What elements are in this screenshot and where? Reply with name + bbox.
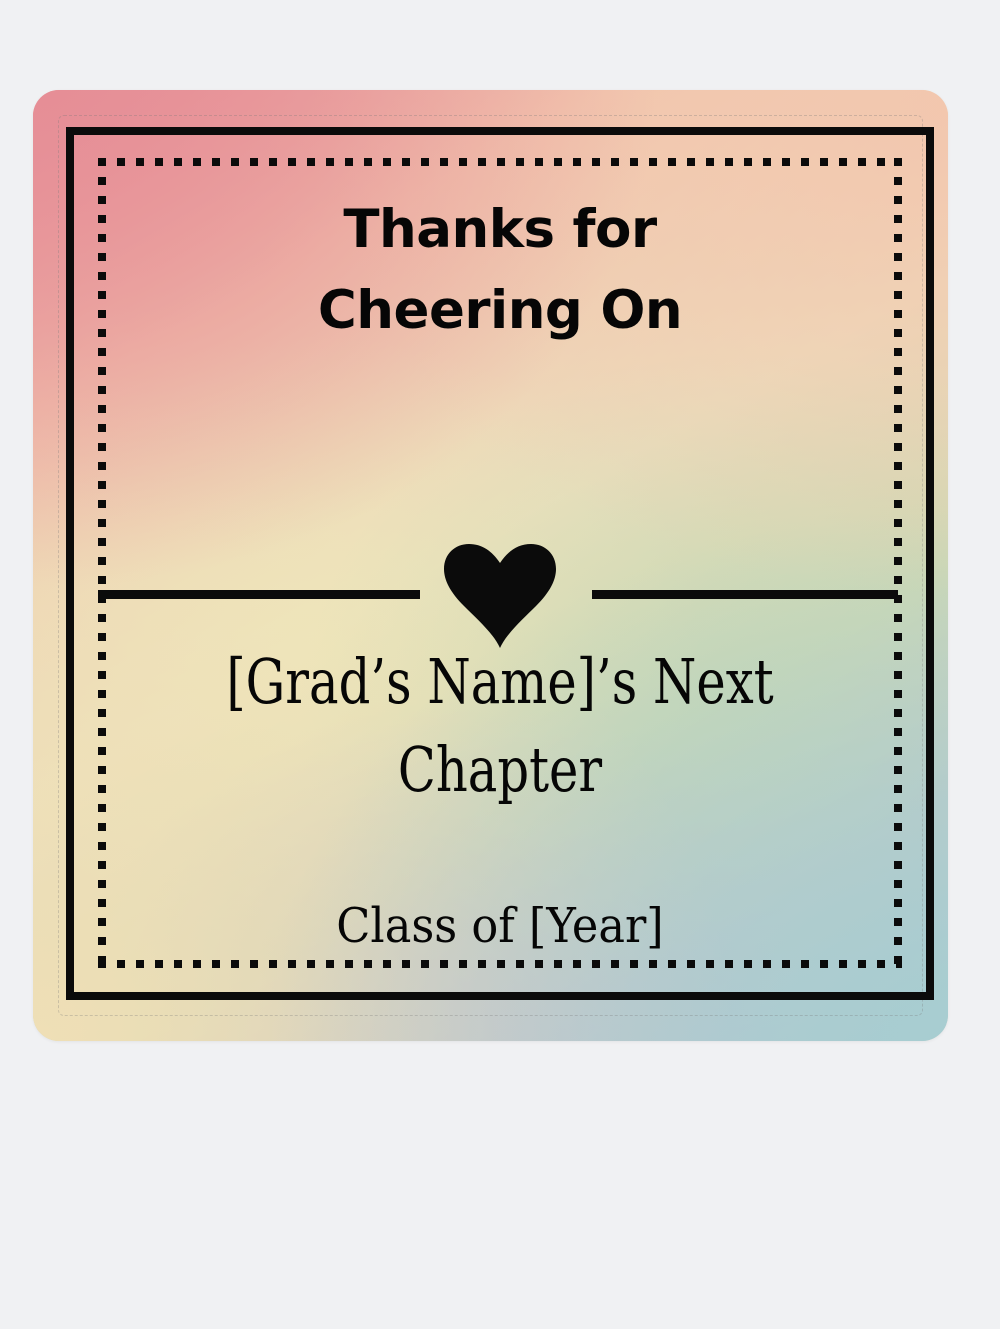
divider-rule-right: [592, 590, 898, 599]
grad-name-block: [Grad’s Name]’s Next Chapter: [186, 638, 813, 814]
page-canvas: Thanks for Cheering On [Grad’s Name]’s N…: [0, 0, 1000, 1329]
grad-name-line-2: Chapter: [186, 726, 813, 814]
card-headline: Thanks for Cheering On: [98, 190, 902, 351]
heart-icon: [444, 544, 556, 648]
card-content: Thanks for Cheering On [Grad’s Name]’s N…: [98, 158, 902, 968]
divider-rule-left: [98, 590, 420, 599]
headline-line-2: Cheering On: [98, 271, 902, 352]
graduation-card[interactable]: Thanks for Cheering On [Grad’s Name]’s N…: [33, 90, 948, 1041]
grad-name-line-1: [Grad’s Name]’s Next: [186, 638, 813, 726]
card-divider: [98, 538, 902, 648]
class-of-year: Class of [Year]: [126, 898, 874, 956]
headline-line-1: Thanks for: [98, 190, 902, 271]
